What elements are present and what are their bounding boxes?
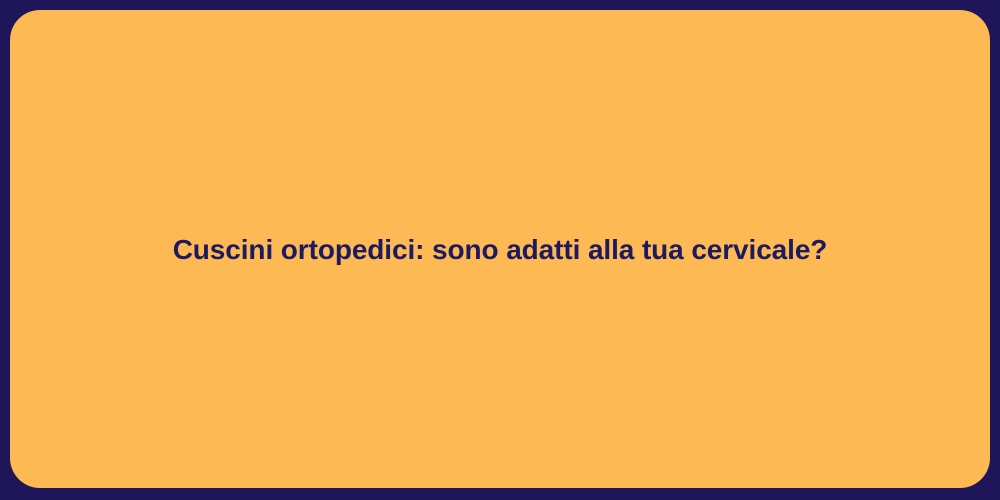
banner-card: Cuscini ortopedici: sono adatti alla tua… — [10, 10, 990, 488]
banner-headline: Cuscini ortopedici: sono adatti alla tua… — [173, 232, 828, 267]
banner-frame: Cuscini ortopedici: sono adatti alla tua… — [0, 0, 1000, 500]
